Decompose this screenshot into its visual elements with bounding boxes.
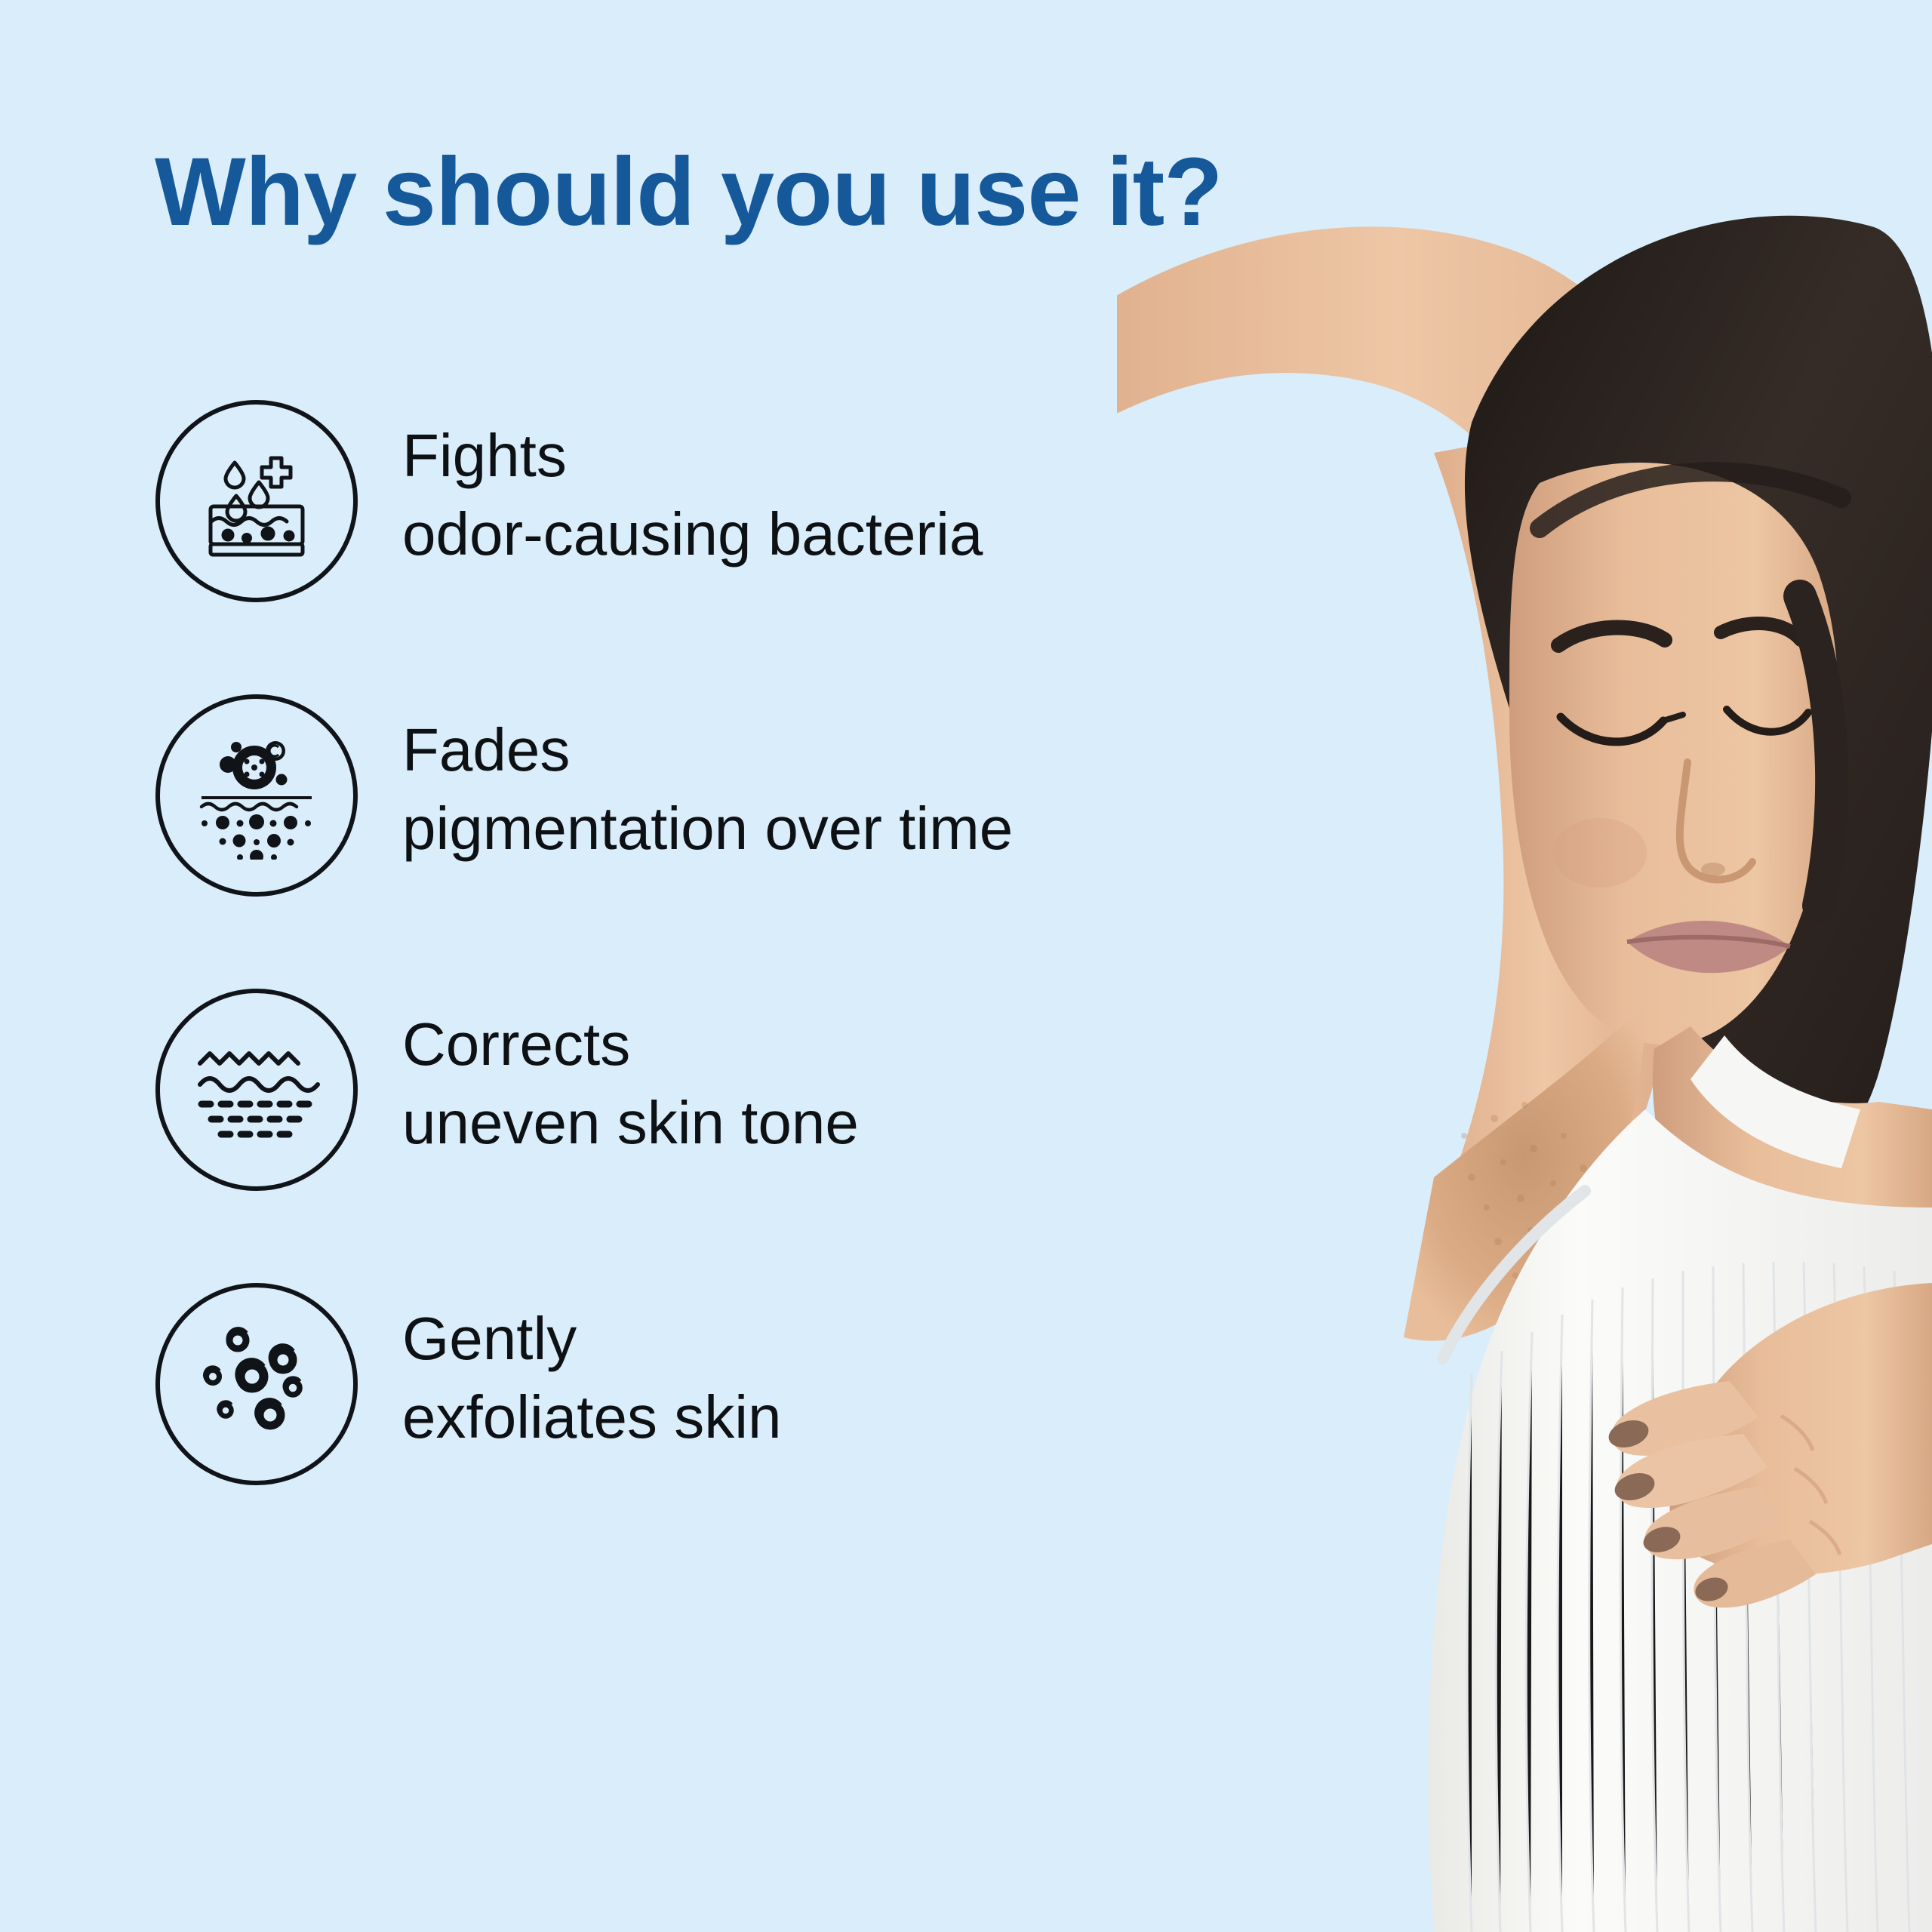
benefit-label: Fades pigmentation over time — [402, 711, 1013, 868]
vitamin-c-pigment-fade-icon — [155, 694, 358, 897]
promo-graphic: Why should you use it? — [0, 0, 1932, 1932]
benefit-line-2: uneven skin tone — [402, 1084, 859, 1162]
benefit-line-1: Fades — [402, 711, 1013, 789]
page-title: Why should you use it? — [155, 142, 1222, 243]
benefit-item-corrects-tone: Corrects uneven skin tone — [155, 989, 1212, 1283]
model-photo — [1117, 0, 1932, 1932]
benefit-item-fades-pigmentation: Fades pigmentation over time — [155, 694, 1212, 989]
uneven-skin-texture-waves-icon — [155, 989, 358, 1191]
benefit-line-2: odor-causing bacteria — [402, 495, 983, 574]
benefit-line-2: pigmentation over time — [402, 789, 1013, 868]
benefit-label: Gently exfoliates skin — [402, 1300, 781, 1457]
benefit-line-1: Corrects — [402, 1005, 859, 1084]
benefit-item-fights-bacteria: Fights odor-causing bacteria — [155, 400, 1212, 694]
exfoliating-particles-icon — [155, 1283, 358, 1485]
benefit-line-2: exfoliates skin — [402, 1378, 781, 1457]
benefit-label: Corrects uneven skin tone — [402, 1005, 859, 1162]
benefit-item-exfoliates: Gently exfoliates skin — [155, 1283, 1212, 1577]
benefit-line-1: Gently — [402, 1300, 781, 1378]
benefit-line-1: Fights — [402, 417, 983, 495]
benefits-list: Fights odor-causing bacteria — [155, 400, 1212, 1577]
serum-drops-on-skin-icon — [155, 400, 358, 602]
benefit-label: Fights odor-causing bacteria — [402, 417, 983, 574]
